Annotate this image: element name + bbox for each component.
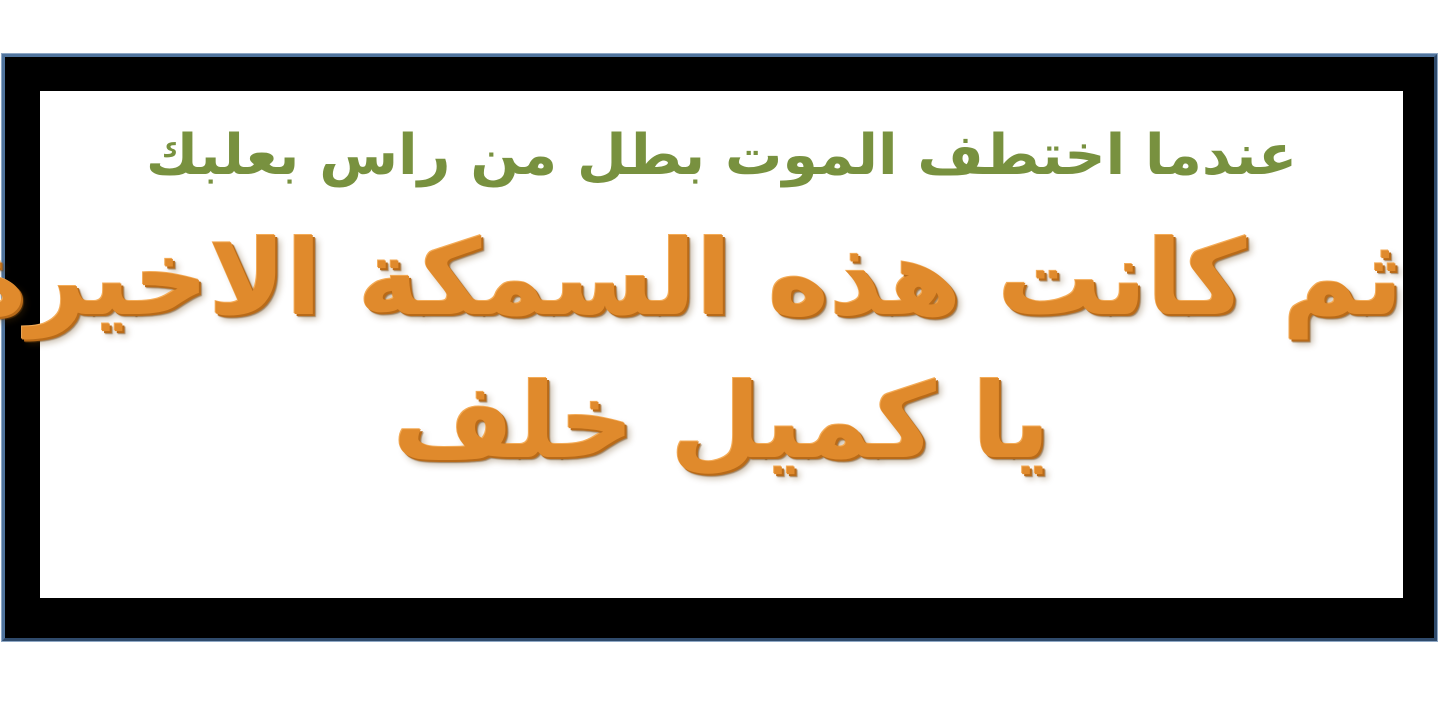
- body-line-1: ثم كانت هذه السمكة الاخيرة: [40, 210, 1403, 347]
- decorative-frame: عندما اختطف الموت بطل من راس بعلبك ثم كا…: [2, 54, 1437, 641]
- banner-root: عندما اختطف الموت بطل من راس بعلبك ثم كا…: [0, 0, 1440, 720]
- content-panel: عندما اختطف الموت بطل من راس بعلبك ثم كا…: [40, 91, 1403, 598]
- heading-line: عندما اختطف الموت بطل من راس بعلبك: [26, 127, 1416, 186]
- body-line-2: يا كميل خلف: [40, 353, 1403, 490]
